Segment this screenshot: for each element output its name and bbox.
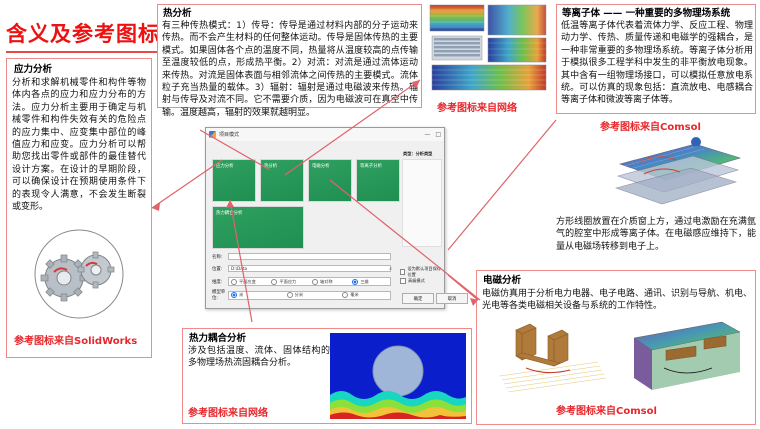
thermal-analysis-body: 有三种传热模式：1）传导：传导是通过材料内部的分子运动来传热。而不会产生材料的任… xyxy=(162,20,418,119)
electromagnetic-heading: 电磁分析 xyxy=(483,275,743,287)
browse-search-icon[interactable]: ⌕ xyxy=(389,266,392,272)
name-input[interactable] xyxy=(228,253,391,260)
dimension-row: 维度: 平面应变 平面应力 轴对称 三维 xyxy=(212,277,395,286)
radio-axisymmetric[interactable]: 轴对称 xyxy=(312,279,352,285)
radio-plane-strain[interactable]: 平面应变 xyxy=(231,279,271,285)
unit-label: 模型单位: xyxy=(212,289,228,301)
analysis-type-pane[interactable] xyxy=(402,159,442,247)
checkbox-advanced-mode-label: 高级模式 xyxy=(408,278,425,284)
thermal-coupling-illustration xyxy=(330,333,466,419)
name-label: 名称: xyxy=(212,254,228,260)
radio-plane-stress[interactable]: 平面应力 xyxy=(271,279,311,285)
tile-electromagnetic-analysis[interactable]: 电磁分析 xyxy=(308,159,352,202)
plasma-heading: 等离子体 —— 一种重要的多物理场系统 xyxy=(562,8,752,20)
gear-illustration xyxy=(20,228,138,326)
unit-row: 模型单位: 米 分米 毫米 xyxy=(212,289,395,301)
radio-unit-millimeter[interactable]: 毫米 xyxy=(342,292,388,298)
electromagnetic-credit: 参考图标来自Comsol xyxy=(556,402,657,417)
plasma-credit: 参考图标来自Comsol xyxy=(600,118,701,133)
radio-three-dimensional[interactable]: 三维 xyxy=(352,279,388,285)
thermal-coupling-credit: 参考图标来自网络 xyxy=(188,404,268,419)
thermal-analysis-heading: 热分析 xyxy=(163,8,413,20)
thermal-coupling-heading: 热力耦合分析 xyxy=(189,333,329,345)
tile-stress-analysis[interactable]: 应力分析 xyxy=(212,159,256,202)
tile-thermal-coupling-analysis[interactable]: 热力耦合分析 xyxy=(212,206,304,249)
minimize-button[interactable]: — xyxy=(424,132,430,138)
location-label: 位置: xyxy=(212,266,228,272)
plasma-body: 低温等离子体代表着流体力学、反应工程、物理动力学、传热、质量传递和电磁学的强耦合… xyxy=(561,20,753,107)
checkbox-default-location[interactable]: 设为默认项目保存位置 xyxy=(400,266,444,278)
analysis-tile-grid: 应力分析 热分析 电磁分析 等离子分析 热力耦合分析 xyxy=(212,159,395,245)
cancel-button[interactable]: 取消 xyxy=(436,293,468,304)
app-icon xyxy=(209,131,216,138)
stress-analysis-credit: 参考图标来自SolidWorks xyxy=(14,332,137,347)
checkbox-default-location-label: 设为默认项目保存位置 xyxy=(407,266,444,278)
thermal-coupling-body: 涉及包括温度、流体、固体结构的多物理场热流固耦合分析。 xyxy=(188,345,330,370)
dialog-title-text: 项目模式 xyxy=(219,131,419,138)
electromagnetic-body: 电磁仿真用于分析电力电器、电子电路、通讯、识别与导航、机电、光电等各类电磁相关设… xyxy=(482,288,752,313)
stress-analysis-body: 分析和求解机械零件和构件等物体内各点的应力和应力分布的方法。应力分析主要用于确定… xyxy=(12,77,146,213)
tile-thermal-analysis[interactable]: 热分析 xyxy=(260,159,304,202)
plasma-illustration xyxy=(600,132,750,210)
location-row: 位置: D:\Data ⌕ xyxy=(212,265,395,272)
radio-unit-meter[interactable]: 米 xyxy=(231,292,287,298)
stress-analysis-heading: 应力分析 xyxy=(14,64,144,76)
tile-plasma-analysis[interactable]: 等离子分析 xyxy=(356,159,400,202)
plasma-note: 方形线圈放置在介质窗上方，通过电激励在充满氩气的腔室中形成等离子体。在电磁感应维… xyxy=(556,216,756,253)
ok-button[interactable]: 确定 xyxy=(402,293,434,304)
thermal-analysis-illustration xyxy=(428,4,548,92)
project-mode-dialog: 项目模式 — □ 类型：分析类型 应力分析 热分析 电磁分析 等离子分析 热力耦… xyxy=(205,127,445,309)
checkbox-advanced-mode[interactable]: 高级模式 xyxy=(400,278,425,284)
maximize-button[interactable]: □ xyxy=(435,132,441,138)
electromagnetic-illustration-right xyxy=(626,316,748,400)
dialog-title-bar: 项目模式 — □ xyxy=(206,128,444,142)
location-input[interactable]: D:\Data xyxy=(228,265,391,272)
dimension-label: 维度: xyxy=(212,279,228,285)
electromagnetic-illustration-left xyxy=(486,316,616,400)
thermal-analysis-credit: 参考图标来自网络 xyxy=(437,99,517,114)
name-row: 名称: xyxy=(212,253,395,260)
radio-unit-decimeter[interactable]: 分米 xyxy=(287,292,343,298)
dialog-body: 类型：分析类型 应力分析 热分析 电磁分析 等离子分析 热力耦合分析 名称: 位… xyxy=(206,141,444,308)
analysis-type-pane-title: 类型：分析类型 xyxy=(403,151,432,157)
